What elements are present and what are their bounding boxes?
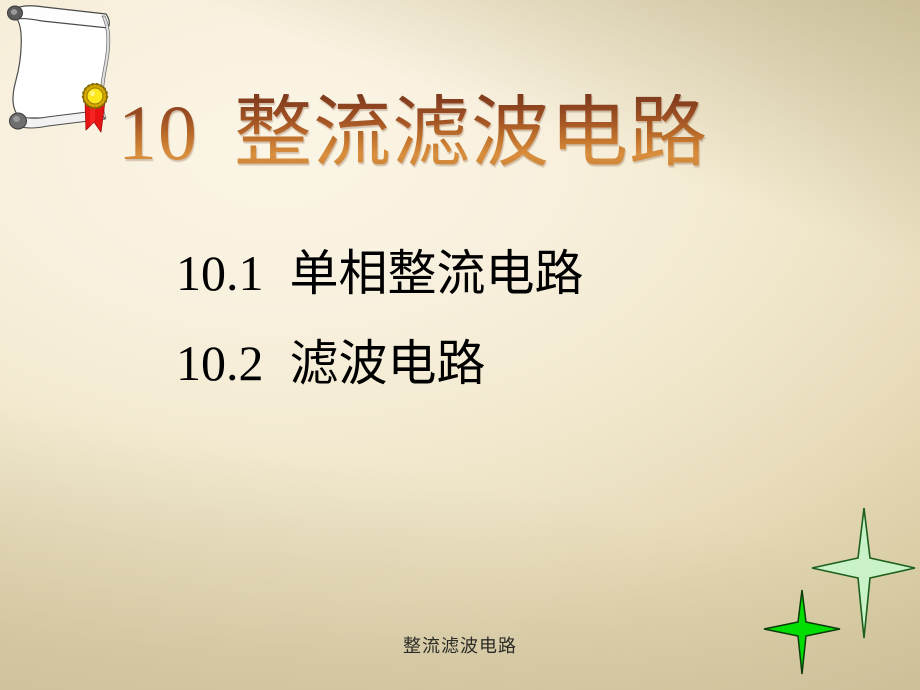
bullet-item-1[interactable]: 10.1单相整流电路 bbox=[176, 248, 816, 298]
title-number: 10 bbox=[118, 94, 198, 172]
bullet-1-number: 10.1 bbox=[176, 245, 264, 301]
title-label: 整流滤波电路 bbox=[234, 94, 708, 172]
bullet-list: 10.1单相整流电路 10.2滤波电路 bbox=[176, 248, 816, 388]
bullet-2-label: 滤波电路 bbox=[290, 335, 486, 392]
slide-title: 10 整流滤波电路 bbox=[118, 79, 818, 187]
scroll-certificate-icon bbox=[2, 2, 130, 138]
star-large bbox=[812, 508, 915, 638]
bullet-2-number: 10.2 bbox=[176, 335, 264, 391]
slide-canvas: 10 整流滤波电路 10.1单相整流电路 10.2滤波电路 整流滤波电路 bbox=[0, 0, 920, 690]
footer-text: 整流滤波电路 bbox=[403, 636, 517, 657]
bullet-1-label: 单相整流电路 bbox=[290, 245, 584, 302]
bullet-item-2[interactable]: 10.2滤波电路 bbox=[176, 338, 816, 388]
slide-footer: 整流滤波电路 bbox=[0, 632, 920, 658]
